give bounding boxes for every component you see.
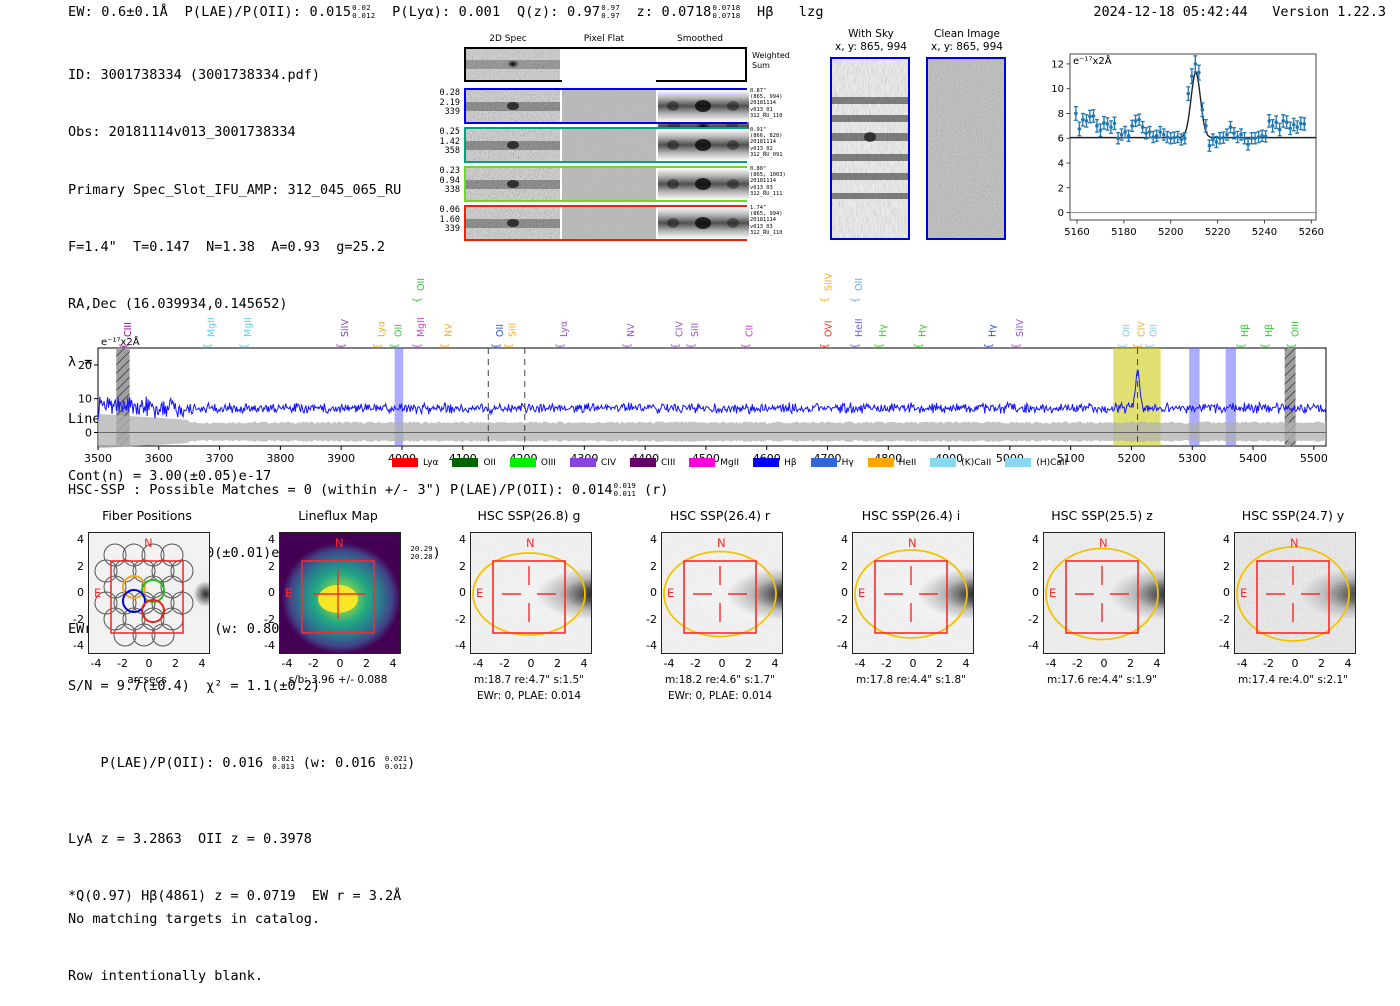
cutout-xtick: -2 bbox=[307, 657, 321, 670]
cutout-ytick: 0 bbox=[639, 586, 657, 599]
cutout-xtick: -2 bbox=[116, 657, 130, 670]
emission-line-label: OII bbox=[416, 278, 427, 291]
north-marker: N bbox=[526, 536, 535, 550]
cutout-xtick: 2 bbox=[551, 657, 565, 670]
legend-item: CIII bbox=[630, 458, 675, 468]
east-marker: E bbox=[1240, 586, 1247, 600]
header-qz: Q(z): 0.97 bbox=[517, 4, 600, 20]
emission-line-brace: { bbox=[412, 297, 423, 303]
legend-swatch bbox=[1005, 458, 1031, 467]
cutout-ytick: -2 bbox=[448, 613, 466, 626]
emission-line-brace: { bbox=[1011, 343, 1022, 349]
svg-text:5160: 5160 bbox=[1064, 227, 1089, 238]
emission-line-label: OVI bbox=[824, 320, 835, 337]
emission-line-label: CII bbox=[744, 325, 755, 337]
fiber-2dspec-strip bbox=[466, 168, 560, 200]
weighted-sum-2dspec-strip bbox=[466, 49, 560, 80]
cutout-xtick: -2 bbox=[1262, 657, 1276, 670]
line-profile-svg: 516051805200522052405260024681012e⁻¹⁷x2Å bbox=[1032, 44, 1324, 248]
legend-label: MgII bbox=[720, 458, 739, 468]
header-line-id: Hβ bbox=[757, 4, 774, 20]
emission-line-brace: { bbox=[336, 343, 347, 349]
emission-line-label: Hβ bbox=[1240, 324, 1251, 337]
header-timestamp-version: 2024-12-18 05:42:44 Version 1.22.3 bbox=[1093, 4, 1386, 20]
fiber-stat: 358 bbox=[430, 147, 460, 157]
footer-line-2: Row intentionally blank. bbox=[68, 967, 320, 986]
with-sky-image bbox=[830, 57, 910, 240]
legend-label: (H)CaII bbox=[1036, 458, 1067, 468]
legend-label: CIV bbox=[601, 458, 616, 468]
cutout-caption-primary: m:17.8 re:4.4" s:1.8" bbox=[816, 674, 1006, 686]
emission-line-label: Lyα bbox=[377, 321, 388, 337]
header-flag: lzg bbox=[799, 4, 824, 20]
emission-line-label: NV bbox=[444, 323, 455, 337]
emission-line-label: Lyα bbox=[559, 321, 570, 337]
detection-info-block: ID: 3001738334 (3001738334.pdf) Obs: 201… bbox=[68, 28, 441, 925]
legend-item: CIV bbox=[570, 458, 616, 468]
emission-line-brace: { bbox=[1286, 343, 1297, 349]
footer-note: No matching targets in catalog. Row inte… bbox=[68, 872, 320, 1006]
svg-text:5200: 5200 bbox=[1158, 227, 1183, 238]
emission-line-label: OII bbox=[1121, 324, 1132, 337]
cutout-xtick: -2 bbox=[498, 657, 512, 670]
cutout-ytick: 2 bbox=[639, 560, 657, 573]
emission-line-brace: { bbox=[850, 343, 861, 349]
cutout-xtick: -4 bbox=[1235, 657, 1249, 670]
cutout-caption-secondary: EWr: 0, PLAE: 0.014 bbox=[625, 690, 815, 702]
cutout-xtick: 4 bbox=[768, 657, 782, 670]
cutout-xtick: 4 bbox=[1150, 657, 1164, 670]
svg-text:3700: 3700 bbox=[206, 452, 234, 465]
spec2d-panel: 2D Spec Pixel Flat Smoothed bbox=[462, 34, 754, 246]
emission-line-brace: { bbox=[440, 343, 451, 349]
emission-line-label: OII bbox=[1149, 324, 1160, 337]
fiber-meta: 312_RU_111 bbox=[750, 191, 786, 197]
cutout-ytick: 2 bbox=[448, 560, 466, 573]
emission-line-brace: { bbox=[239, 343, 250, 349]
legend-item: MgII bbox=[689, 458, 739, 468]
emission-line-brace: { bbox=[874, 343, 885, 349]
emission-line-brace: { bbox=[555, 343, 566, 349]
header-timestamp: 2024-12-18 05:42:44 bbox=[1093, 4, 1247, 20]
cutout-xtick: -4 bbox=[280, 657, 294, 670]
cutout-panel: HSC SSP(24.7) y NE-4-4-2-2002244m:17 bbox=[1198, 508, 1388, 738]
legend-item: HeII bbox=[868, 458, 917, 468]
cutout-ytick: 4 bbox=[257, 533, 275, 546]
east-marker: E bbox=[476, 586, 483, 600]
emission-line-label: MgII bbox=[416, 317, 427, 337]
cutout-ytick: 4 bbox=[66, 533, 84, 546]
cutout-caption-secondary: EWr: 0, PLAE: 0.014 bbox=[434, 690, 624, 702]
spec2d-col-title-2dspec: 2D Spec bbox=[462, 34, 554, 44]
cutout-image[interactable] bbox=[661, 532, 783, 654]
cutout-xtick: -2 bbox=[689, 657, 703, 670]
clean-image-pixels bbox=[926, 57, 1006, 240]
hsc-filter: (r) bbox=[644, 482, 668, 498]
cutout-ytick: 0 bbox=[66, 586, 84, 599]
svg-text:5240: 5240 bbox=[1252, 227, 1277, 238]
info-id: ID: 3001738334 (3001738334.pdf) bbox=[68, 66, 441, 85]
legend-swatch bbox=[811, 458, 837, 467]
legend-label: Hγ bbox=[842, 458, 854, 468]
cutout-panel: Lineflux Map NE-4-4-2-2002244s/b: 3.96 +… bbox=[243, 508, 433, 738]
spec2d-fiber-row: 0.230.94338 bbox=[462, 166, 754, 203]
legend-label: OII bbox=[483, 458, 495, 468]
cutout-ytick: 0 bbox=[1212, 586, 1230, 599]
spec2d-fiber-row: 0.251.42358 bbox=[462, 127, 754, 164]
fiber-2dspec-strip bbox=[466, 207, 560, 239]
weighted-sum-label: Weighted Sum bbox=[752, 51, 790, 70]
legend-label: OIII bbox=[541, 458, 556, 468]
header-plae-poii: P(LAE)/P(OII): 0.015 bbox=[185, 4, 352, 20]
fiber-meta: 312_RU_110 bbox=[750, 230, 782, 236]
emission-line-label: SiII bbox=[507, 323, 518, 337]
emission-line-label: SiIV bbox=[824, 273, 835, 291]
svg-text:3900: 3900 bbox=[327, 452, 355, 465]
fiber-row-right-labels: 0.87"(865, 994)20181114v013_01312_RU_110 bbox=[750, 88, 782, 119]
cutout-ytick: -2 bbox=[830, 613, 848, 626]
cutout-xtick: -2 bbox=[880, 657, 894, 670]
cutout-ytick: 0 bbox=[1021, 586, 1039, 599]
cutout-xtick: -4 bbox=[1044, 657, 1058, 670]
cutout-ytick: -2 bbox=[639, 613, 657, 626]
fiber-row-left-labels: 0.282.19339 bbox=[430, 89, 460, 118]
emission-line-brace: { bbox=[622, 343, 633, 349]
cutout-xtick: 2 bbox=[1124, 657, 1138, 670]
cutout-panel: HSC SSP(25.5) z NE-4-4-2-2002244m:17 bbox=[1007, 508, 1197, 738]
cutout-row: Fiber Positions NE-4-4-2-2002244arcsecsL… bbox=[52, 508, 1392, 738]
cutout-xtick: 4 bbox=[1341, 657, 1355, 670]
cutout-ytick: 2 bbox=[1021, 560, 1039, 573]
cutout-title: HSC SSP(26.4) i bbox=[816, 508, 1006, 523]
clean-image-title: Clean Image bbox=[922, 28, 1012, 41]
cutout-xtick: -4 bbox=[471, 657, 485, 670]
cutout-xtick: 0 bbox=[1288, 657, 1302, 670]
legend-item: OIII bbox=[510, 458, 556, 468]
cutout-ytick: 2 bbox=[830, 560, 848, 573]
emission-line-brace: { bbox=[202, 343, 213, 349]
fiber-smoothed-strip bbox=[658, 129, 749, 161]
cutout-xtick: 0 bbox=[524, 657, 538, 670]
cutout-ytick: -4 bbox=[1212, 639, 1230, 652]
fiber-stat: 338 bbox=[430, 186, 460, 196]
line-profile-chart: 516051805200522052405260024681012e⁻¹⁷x2Å bbox=[1032, 44, 1324, 248]
cutout-ytick: -2 bbox=[66, 613, 84, 626]
north-marker: N bbox=[717, 536, 726, 550]
cutout-xtick: 2 bbox=[1315, 657, 1329, 670]
cutout-ytick: -2 bbox=[1021, 613, 1039, 626]
cutout-title: HSC SSP(26.8) g bbox=[434, 508, 624, 523]
cutout-ytick: 4 bbox=[1212, 533, 1230, 546]
cutout-ytick: -4 bbox=[1021, 639, 1039, 652]
fiber-row-right-labels: 0.91"(866, 828)20181114v013_02312_RU_091 bbox=[750, 127, 782, 158]
cutout-xtick: 0 bbox=[142, 657, 156, 670]
cutout-ytick: 4 bbox=[1021, 533, 1039, 546]
emission-line-brace: { bbox=[503, 343, 514, 349]
emission-line-label: CIV bbox=[675, 321, 686, 337]
legend-item: OII bbox=[452, 458, 495, 468]
emission-line-brace: { bbox=[491, 343, 502, 349]
cutout-ytick: -4 bbox=[257, 639, 275, 652]
cutout-xtick: 4 bbox=[386, 657, 400, 670]
cutout-ytick: -2 bbox=[1212, 613, 1230, 626]
svg-text:5200: 5200 bbox=[1117, 452, 1145, 465]
svg-text:5300: 5300 bbox=[1178, 452, 1206, 465]
fiber-2dspec-strip bbox=[466, 90, 560, 122]
cutout-ytick: 0 bbox=[830, 586, 848, 599]
cutout-ytick: 2 bbox=[1212, 560, 1230, 573]
fiber-row-right-labels: 0.80"(865, 1003)20181114v013_03312_RU_11… bbox=[750, 166, 786, 197]
emission-line-label: OIII bbox=[1290, 321, 1301, 337]
emission-line-label: Hγ bbox=[918, 324, 929, 337]
svg-text:5220: 5220 bbox=[1205, 227, 1230, 238]
emission-line-brace: { bbox=[914, 343, 925, 349]
emission-line-brace: { bbox=[984, 343, 995, 349]
hsc-ssp-match-line: HSC-SSP : Possible Matches = 0 (within +… bbox=[68, 482, 668, 498]
cutout-ytick: -4 bbox=[639, 639, 657, 652]
svg-text:5260: 5260 bbox=[1299, 227, 1324, 238]
svg-text:2: 2 bbox=[1058, 183, 1064, 194]
fiber-row-left-labels: 0.061.60339 bbox=[430, 206, 460, 235]
svg-text:8: 8 bbox=[1058, 109, 1064, 120]
north-marker: N bbox=[1099, 536, 1108, 550]
fiber-row-left-labels: 0.251.42358 bbox=[430, 128, 460, 157]
svg-text:3800: 3800 bbox=[266, 452, 294, 465]
cutout-ytick: 2 bbox=[66, 560, 84, 573]
fiber-row-right-labels: 1.74"(865, 994)20181114v013_03312_RU_110 bbox=[750, 205, 782, 236]
fiber-smoothed-strip bbox=[658, 168, 749, 200]
cutout-xtick: 4 bbox=[577, 657, 591, 670]
cutout-caption-primary: m:17.4 re:4.0" s:2.1" bbox=[1198, 674, 1388, 686]
cutout-caption-primary: m:18.7 re:4.7" s:1.5" bbox=[434, 674, 624, 686]
spec2d-col-title-pixelflat: Pixel Flat bbox=[558, 34, 650, 44]
legend-swatch bbox=[689, 458, 715, 467]
emission-line-label: Hγ bbox=[878, 324, 889, 337]
legend-item: Hγ bbox=[811, 458, 854, 468]
legend-item: Hβ bbox=[753, 458, 797, 468]
svg-text:4: 4 bbox=[1058, 159, 1064, 170]
header-ew: EW: 0.6±0.1Å bbox=[68, 4, 168, 20]
emission-line-brace: { bbox=[390, 343, 401, 349]
fiber-pixelflat-strip bbox=[562, 129, 656, 161]
legend-label: CIII bbox=[661, 458, 675, 468]
cutout-caption-primary: arcsecs bbox=[52, 674, 242, 686]
legend-label: HeII bbox=[899, 458, 917, 468]
legend-label: (K)CaII bbox=[961, 458, 991, 468]
cutout-ytick: -4 bbox=[448, 639, 466, 652]
info-primary-spec: Primary Spec_Slot_IFU_AMP: 312_045_065_R… bbox=[68, 181, 441, 200]
cutout-ytick: 0 bbox=[448, 586, 466, 599]
svg-text:3500: 3500 bbox=[84, 452, 112, 465]
svg-text:10: 10 bbox=[78, 393, 92, 406]
emission-line-label: SiIV bbox=[340, 319, 351, 337]
with-sky-title: With Sky bbox=[826, 28, 916, 41]
header-summary-line: EW: 0.6±0.1Å P(LAE)/P(OII): 0.0150.020.0… bbox=[68, 4, 824, 20]
cutout-ytick: -4 bbox=[66, 639, 84, 652]
legend-swatch bbox=[930, 458, 956, 467]
legend-label: Lyα bbox=[423, 458, 438, 468]
cutout-xtick: 2 bbox=[169, 657, 183, 670]
cutout-panel: Fiber Positions NE-4-4-2-2002244arcsecs bbox=[52, 508, 242, 738]
emission-line-brace: { bbox=[1117, 343, 1128, 349]
fiber-row-frame bbox=[464, 205, 747, 241]
cutout-ytick: -2 bbox=[257, 613, 275, 626]
info-plae-w-errors: 0.0210.012 bbox=[385, 755, 407, 770]
fiber-pixelflat-strip bbox=[562, 90, 656, 122]
emission-line-brace: { bbox=[373, 343, 384, 349]
info-obs: Obs: 20181114v013_3001738334 bbox=[68, 123, 441, 142]
east-marker: E bbox=[94, 586, 101, 600]
svg-text:5500: 5500 bbox=[1300, 452, 1328, 465]
north-marker: N bbox=[1290, 536, 1299, 550]
cutout-xtick: 4 bbox=[959, 657, 973, 670]
cutout-xtick: -4 bbox=[662, 657, 676, 670]
svg-text:5180: 5180 bbox=[1111, 227, 1136, 238]
cutout-xtick: 0 bbox=[906, 657, 920, 670]
emission-line-brace: { bbox=[820, 297, 831, 303]
legend-swatch bbox=[452, 458, 478, 467]
svg-text:10: 10 bbox=[1051, 84, 1064, 95]
emission-line-brace: { bbox=[820, 343, 831, 349]
cutout-xtick: -4 bbox=[89, 657, 103, 670]
cutout-xtick: -2 bbox=[1071, 657, 1085, 670]
cutout-image[interactable] bbox=[470, 532, 592, 654]
fiber-row-frame bbox=[464, 166, 747, 202]
clean-image-coords: x, y: 865, 994 bbox=[922, 41, 1012, 54]
header-z: z: 0.0718 bbox=[637, 4, 712, 20]
fiber-stat: 339 bbox=[430, 225, 460, 235]
fiber-smoothed-strip bbox=[658, 90, 749, 122]
legend-swatch bbox=[510, 458, 536, 467]
legend-item: (H)CaII bbox=[1005, 458, 1067, 468]
legend-swatch bbox=[570, 458, 596, 467]
legend-label: Hβ bbox=[784, 458, 797, 468]
cutout-caption-primary: s/b: 3.96 +/- 0.088 bbox=[243, 674, 433, 686]
full-spectrum-svg: 3500360037003800390040004100420043004400… bbox=[60, 268, 1340, 468]
cutout-xtick: 2 bbox=[933, 657, 947, 670]
svg-text:0: 0 bbox=[85, 426, 92, 439]
fiber-pixelflat-strip bbox=[562, 168, 656, 200]
hsc-match-text: HSC-SSP : Possible Matches = 0 (within +… bbox=[68, 482, 613, 498]
emission-line-label: NV bbox=[626, 323, 637, 337]
cutout-panel: HSC SSP(26.4) i NE-4-4-2-2002244m:17 bbox=[816, 508, 1006, 738]
emission-line-brace: { bbox=[1260, 343, 1271, 349]
fiber-meta: 312_RU_091 bbox=[750, 152, 782, 158]
fiber-row-left-labels: 0.230.94338 bbox=[430, 167, 460, 196]
emission-line-brace: { bbox=[1236, 343, 1247, 349]
cutout-image[interactable] bbox=[1043, 532, 1165, 654]
emission-line-label: CIV bbox=[1137, 321, 1148, 337]
cutout-xtick: 4 bbox=[195, 657, 209, 670]
cutout-image[interactable] bbox=[279, 532, 401, 654]
emission-line-label: SiIV bbox=[1015, 319, 1026, 337]
emission-line-label: HeII bbox=[854, 318, 865, 337]
spec2d-col-title-smoothed: Smoothed bbox=[654, 34, 746, 44]
spectrum-legend: LyαOIIOIIICIVCIIIMgIIHβHγHeII(K)CaII(H)C… bbox=[392, 450, 1032, 466]
cutout-title: Fiber Positions bbox=[52, 508, 242, 523]
legend-swatch bbox=[630, 458, 656, 467]
east-marker: E bbox=[285, 586, 292, 600]
cutout-title: HSC SSP(24.7) y bbox=[1198, 508, 1388, 523]
cutout-xtick: 0 bbox=[715, 657, 729, 670]
legend-swatch bbox=[753, 458, 779, 467]
emission-line-brace: { bbox=[686, 343, 697, 349]
cutout-ytick: 2 bbox=[257, 560, 275, 573]
emission-line-label: SiII bbox=[690, 323, 701, 337]
emission-line-brace: { bbox=[671, 343, 682, 349]
emission-line-label: OII bbox=[854, 278, 865, 291]
with-sky-coords: x, y: 865, 994 bbox=[826, 41, 916, 54]
spec2d-fiber-rows: 0.282.19339 bbox=[462, 88, 754, 246]
north-marker: N bbox=[335, 536, 344, 550]
cutout-xtick: 0 bbox=[333, 657, 347, 670]
east-marker: E bbox=[667, 586, 674, 600]
emission-line-brace: { bbox=[119, 343, 130, 349]
footer-line-1: No matching targets in catalog. bbox=[68, 910, 320, 929]
fiber-row-frame bbox=[464, 88, 747, 124]
cutout-ytick: 4 bbox=[639, 533, 657, 546]
emission-line-label: MgII bbox=[206, 317, 217, 337]
emission-line-label: OII bbox=[495, 324, 506, 337]
fiber-pixelflat-strip bbox=[562, 207, 656, 239]
cutout-panel: HSC SSP(26.8) g NE-4-4-2-2002244m:18 bbox=[434, 508, 624, 738]
info-redshifts: LyA z = 3.2863 OII z = 0.3978 bbox=[68, 830, 441, 849]
svg-text:20: 20 bbox=[78, 359, 92, 372]
emission-line-brace: { bbox=[850, 297, 861, 303]
spec2d-weighted-sum-row: Weighted Sum bbox=[464, 47, 747, 82]
svg-text:5400: 5400 bbox=[1239, 452, 1267, 465]
info-plae-poii: P(LAE)/P(OII): 0.016 0.0210.013 (w: 0.01… bbox=[68, 734, 441, 791]
header-version: Version 1.22.3 bbox=[1272, 4, 1386, 20]
header-plya: P(Lyα): 0.001 bbox=[392, 4, 500, 20]
info-seeing: F=1.4" T=0.147 N=1.38 A=0.93 g=25.2 bbox=[68, 238, 441, 257]
east-marker: E bbox=[1049, 586, 1056, 600]
cutout-ytick: 0 bbox=[257, 586, 275, 599]
emission-line-brace: { bbox=[412, 343, 423, 349]
emission-line-label: CIII bbox=[123, 322, 134, 337]
emission-line-label: OII bbox=[394, 324, 405, 337]
svg-text:12: 12 bbox=[1051, 59, 1064, 70]
emission-line-brace: { bbox=[1145, 343, 1156, 349]
spec2d-fiber-row: 0.282.19339 bbox=[462, 88, 754, 125]
cutout-image[interactable] bbox=[852, 532, 974, 654]
fiber-stat: 339 bbox=[430, 108, 460, 118]
hsc-plae-errors: 0.0190.011 bbox=[614, 482, 636, 497]
full-spectrum-panel: 3500360037003800390040004100420043004400… bbox=[60, 268, 1340, 468]
svg-text:3600: 3600 bbox=[145, 452, 173, 465]
emission-line-label: Hβ bbox=[1264, 324, 1275, 337]
svg-text:0: 0 bbox=[1058, 208, 1064, 219]
legend-item: Lyα bbox=[392, 458, 438, 468]
legend-item: (K)CaII bbox=[930, 458, 991, 468]
cutout-caption-primary: m:18.2 re:4.6" s:1.7" bbox=[625, 674, 815, 686]
fiber-smoothed-strip bbox=[658, 207, 749, 239]
cutout-panel: HSC SSP(26.4) r NE-4-4-2-2002244m:18 bbox=[625, 508, 815, 738]
cutout-xtick: 0 bbox=[1097, 657, 1111, 670]
legend-swatch bbox=[392, 458, 418, 467]
fiber-2dspec-strip bbox=[466, 129, 560, 161]
header-qz-errors: 0.970.97 bbox=[601, 4, 620, 19]
cutout-image[interactable] bbox=[88, 532, 210, 654]
cutout-image[interactable] bbox=[1234, 532, 1356, 654]
cutout-ytick: 4 bbox=[448, 533, 466, 546]
emission-line-brace: { bbox=[1133, 343, 1144, 349]
emission-line-label: MgII bbox=[243, 317, 254, 337]
fiber-row-frame bbox=[464, 127, 747, 163]
line-profile-ylabel: e⁻¹⁷x2Å bbox=[1073, 54, 1112, 67]
clean-image-cutout: Clean Image x, y: 865, 994 bbox=[922, 28, 1012, 246]
cutout-title: HSC SSP(25.5) z bbox=[1007, 508, 1197, 523]
